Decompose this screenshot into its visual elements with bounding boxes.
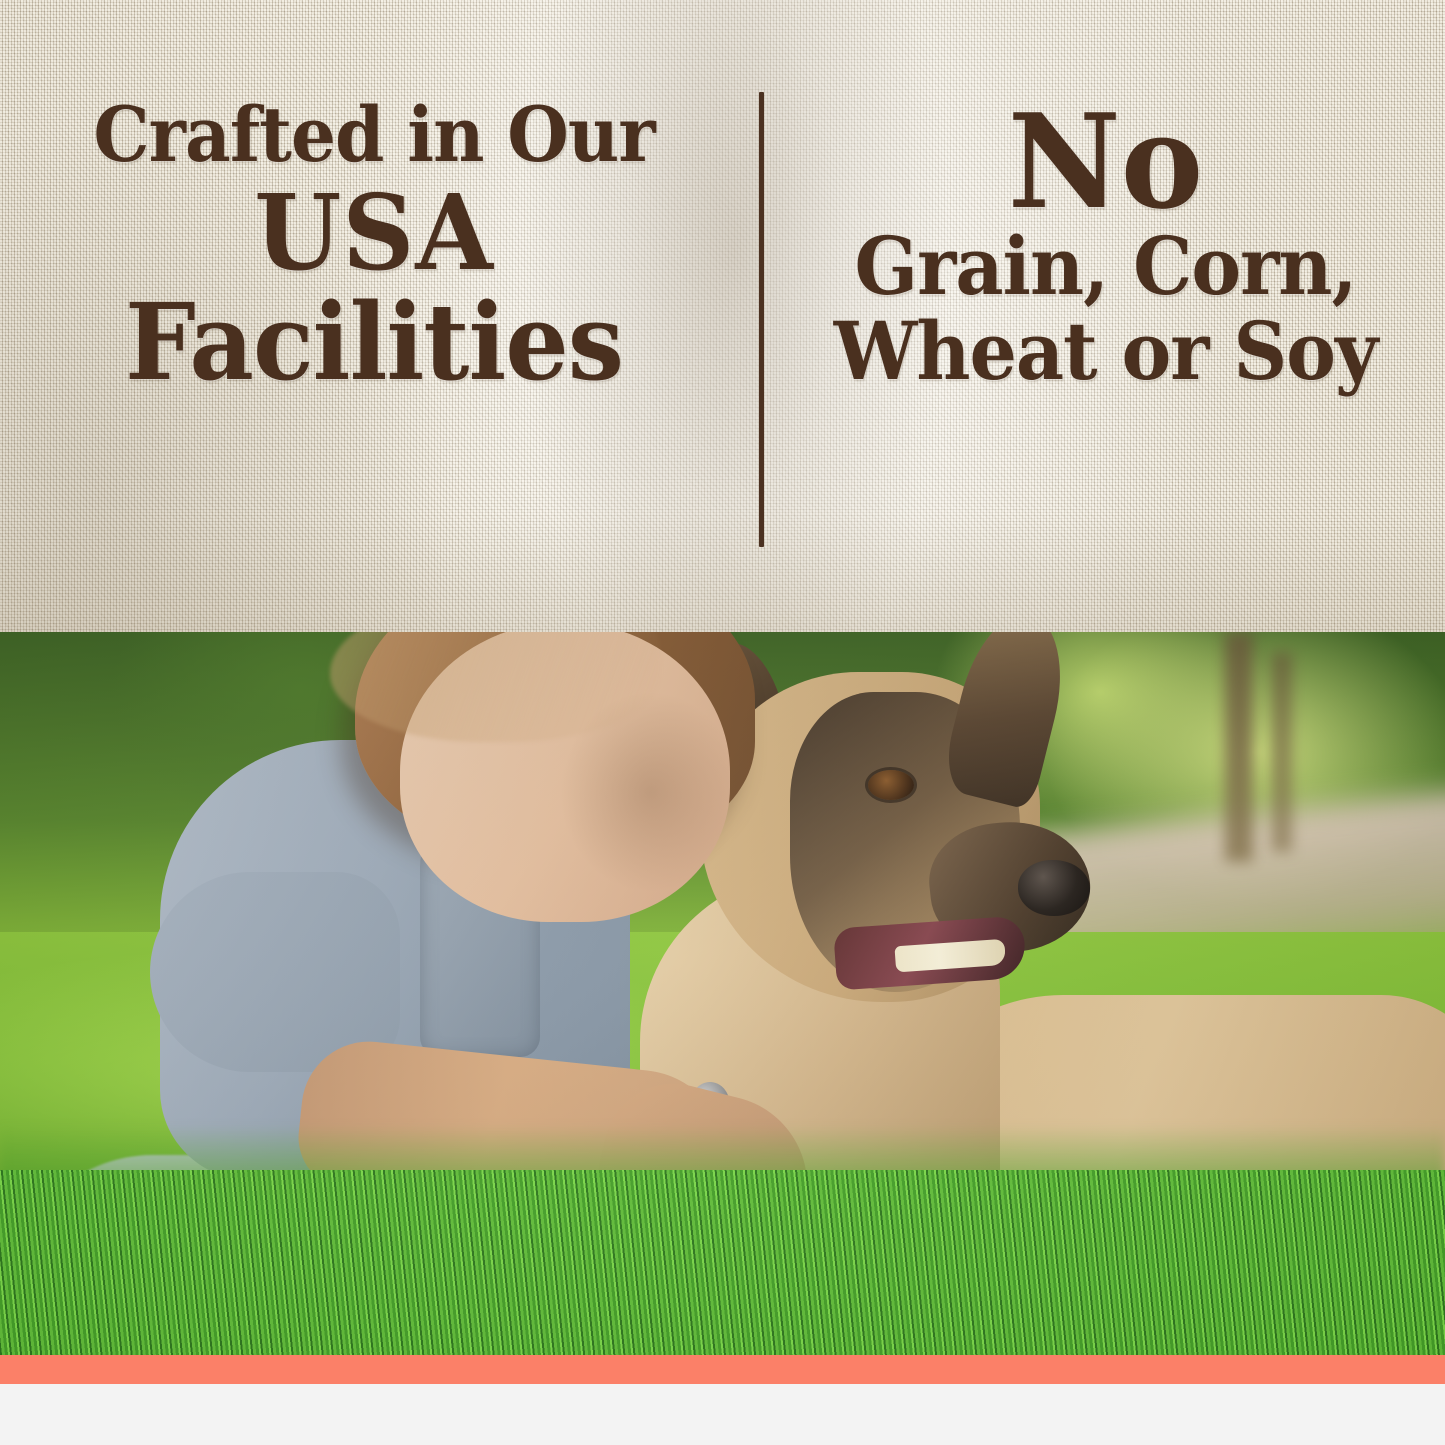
claim-usa-line3: Facilities [77,290,671,394]
claim-no-line3: Wheat or Soy [823,312,1388,390]
dog-teeth [894,939,1006,973]
burlap-banner: Crafted in Our USA Facilities No Grain, … [0,0,1445,632]
foreground-grass-blades [0,1170,1445,1355]
background-tree-trunk-secondary [1272,652,1292,852]
claim-no-line2: Grain, Corn, [823,227,1388,305]
lifestyle-photo-boy-and-dog [0,632,1445,1355]
claim-usa-line1: Crafted in Our [80,98,668,172]
product-infographic-canvas: Crafted in Our USA Facilities No Grain, … [0,0,1445,1445]
footer-whitespace [0,1384,1445,1445]
coral-accent-bar [0,1355,1445,1384]
claim-usa-line2: USA [71,182,678,284]
dog-nose [1018,860,1090,916]
background-tree-trunk [1225,632,1253,862]
claim-no-grain: No Grain, Corn, Wheat or Soy [760,0,1445,390]
claims-vertical-divider [759,92,764,547]
claim-no-line1: No [817,98,1394,225]
claims-row: Crafted in Our USA Facilities No Grain, … [0,0,1445,632]
dog-eye [868,770,914,800]
claim-made-in-usa: Crafted in Our USA Facilities [0,0,760,394]
